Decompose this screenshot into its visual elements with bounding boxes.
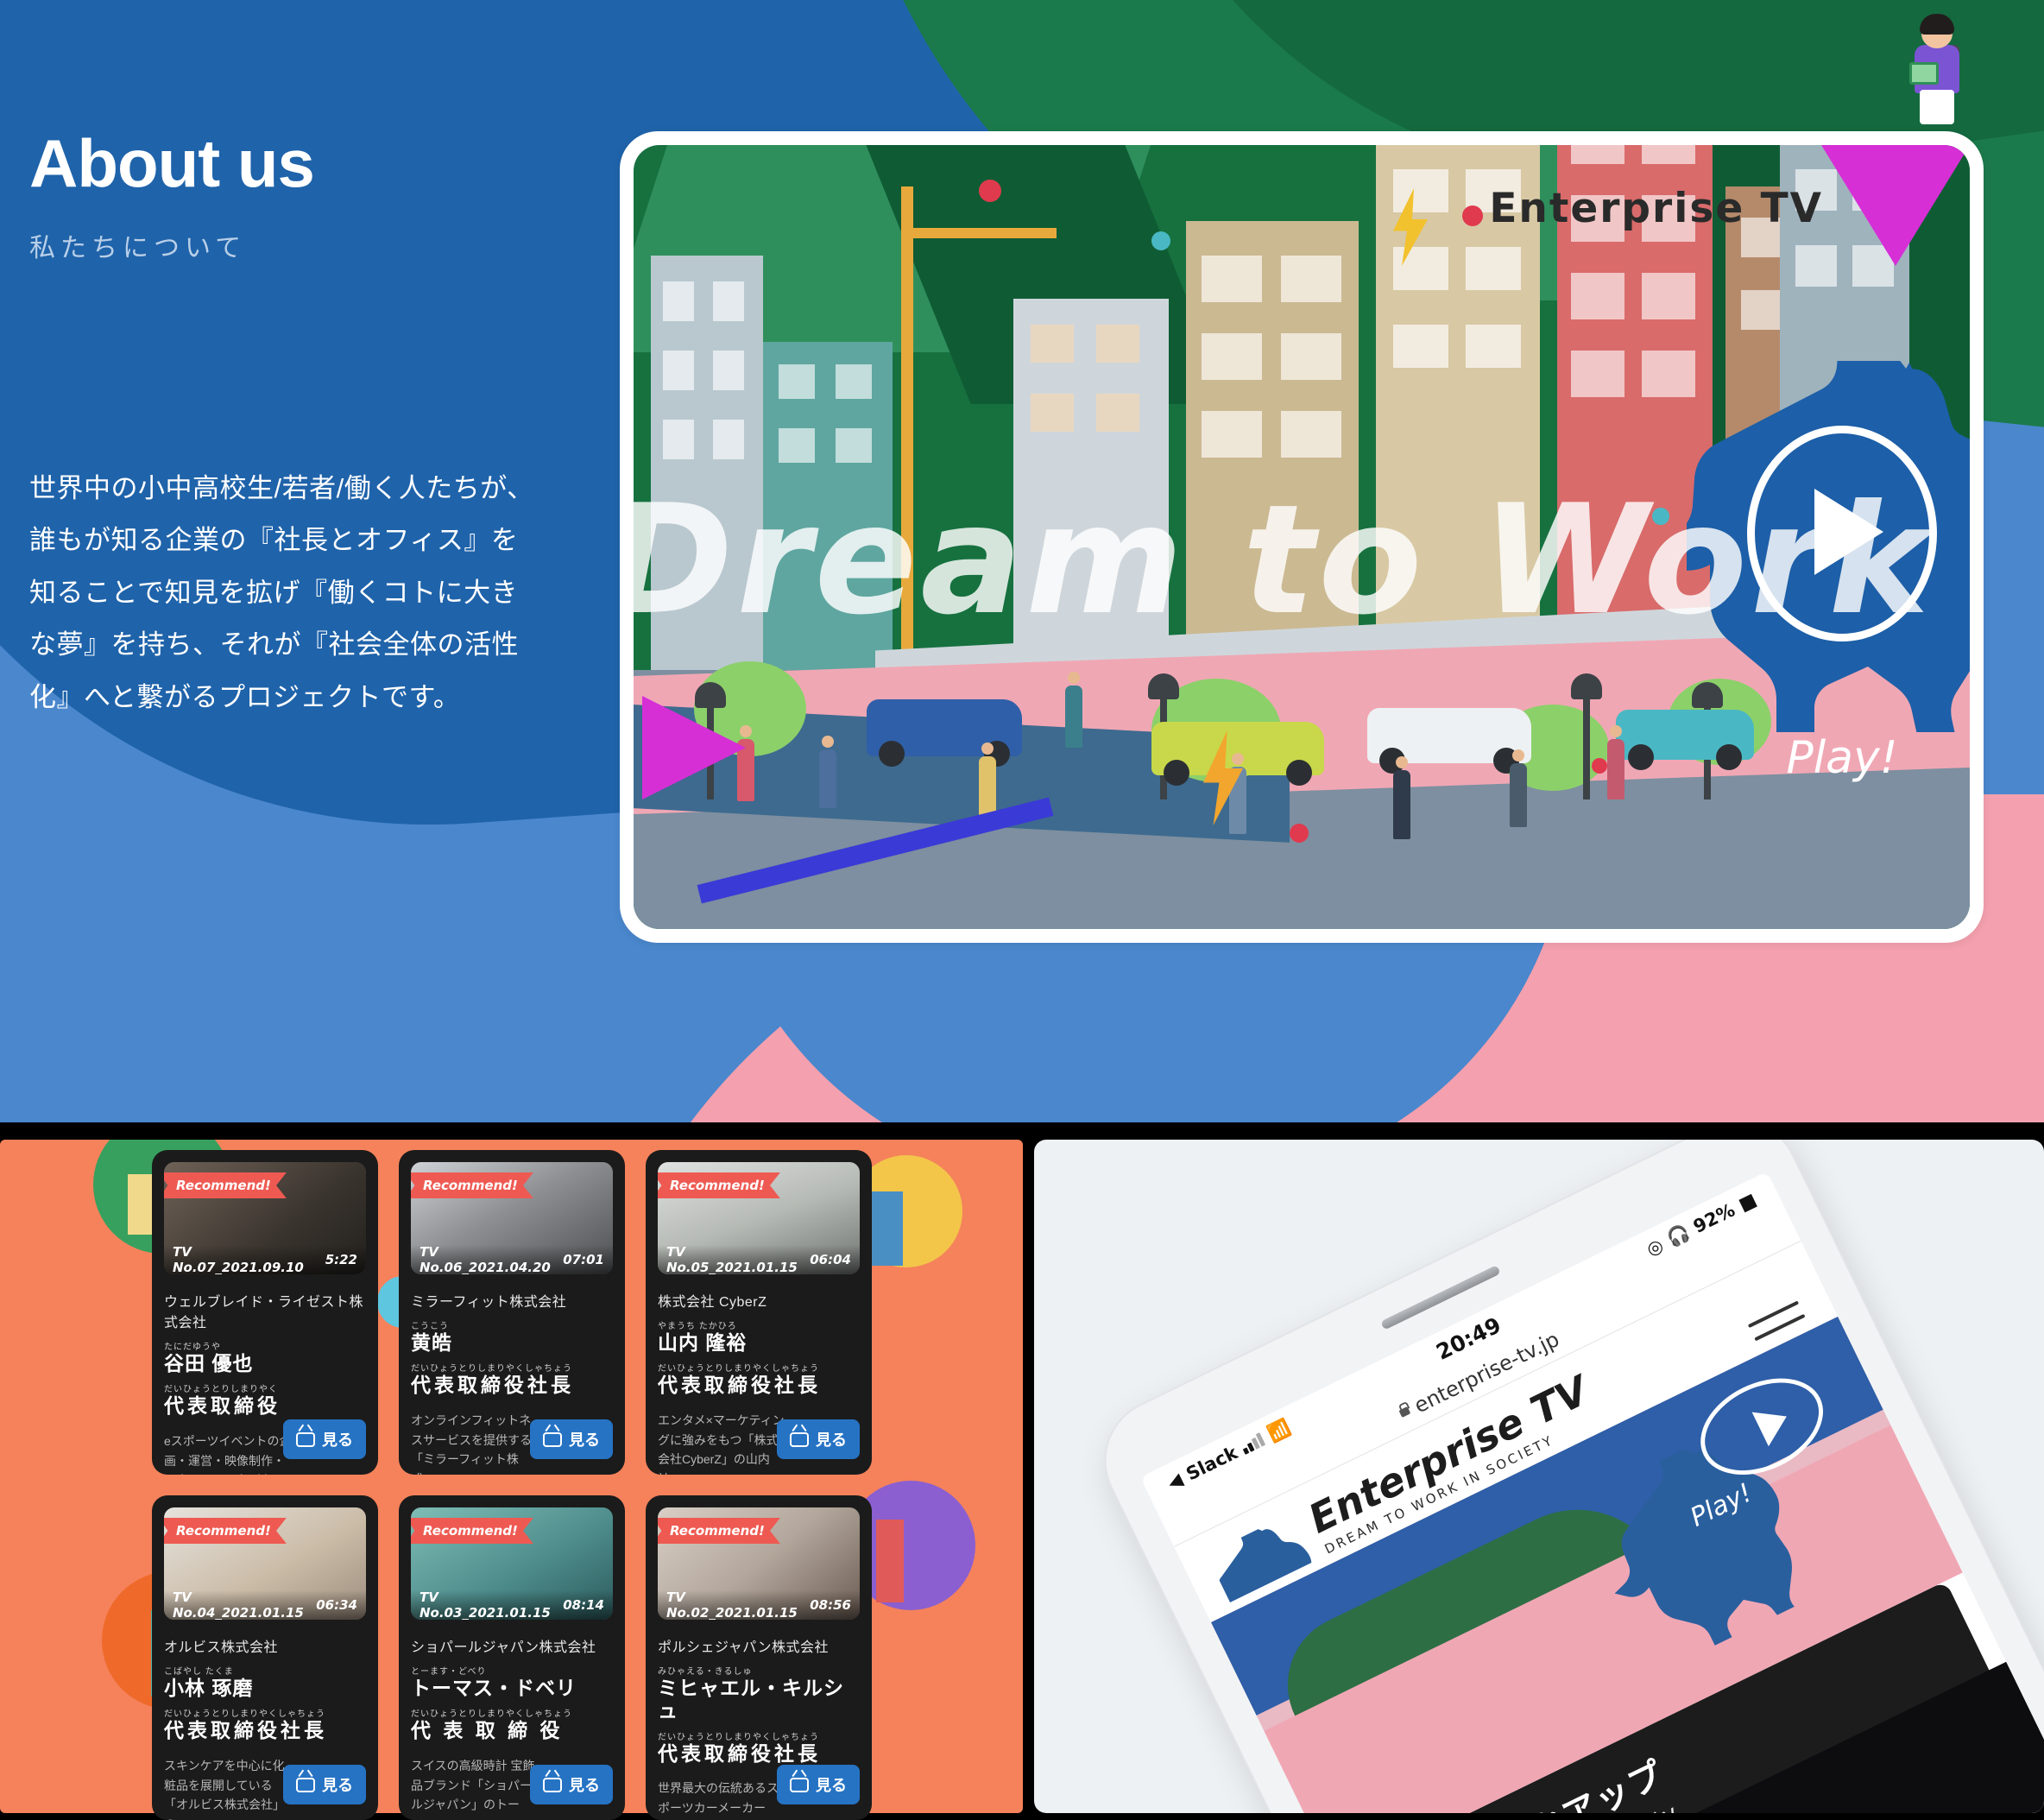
back-arrow-icon: ◀ — [1164, 1469, 1186, 1494]
person-role: 代表取締役 — [164, 1394, 366, 1417]
hero-video-frame[interactable]: Dream to Work Play! Enterprise TV — [620, 131, 1984, 943]
battery-icon: ■ — [1735, 1189, 1759, 1215]
person-role: 代 表 取 締 役 — [411, 1719, 613, 1741]
card-description: スキンケアを中心に化粧品を展開している「オルビス株式会社」の... — [164, 1756, 293, 1820]
person-name: 黄皓 — [411, 1331, 613, 1354]
video-card[interactable]: Recommend! TV No.05_2021.01.15 06:04 株式会… — [646, 1150, 872, 1475]
pedestrian-8 — [1607, 739, 1624, 799]
decor-dot-1 — [979, 180, 1001, 202]
video-card[interactable]: Recommend! TV No.07_2021.09.10 5:22 ウェルブ… — [152, 1150, 378, 1475]
car-blue — [867, 699, 1022, 756]
about-us-hero-panel: About us 私たちについて 世界中の小中高校生/若者/働く人たちが、誰もが… — [0, 0, 2044, 1122]
thumbnail-meta-bar: TV No.02_2021.01.15 08:56 — [658, 1590, 860, 1620]
tv-number: TV No.07_2021.09.10 — [173, 1244, 325, 1274]
play-triangle-icon[interactable] — [1814, 489, 1883, 575]
book-icon — [1909, 62, 1939, 85]
person-role-furigana: だいひょうとりしまりやくしゃちょう — [164, 1706, 366, 1719]
video-thumbnail[interactable]: Recommend! TV No.06_2021.04.20 07:01 — [411, 1162, 613, 1274]
decor-building-yellow-1 — [128, 1174, 154, 1235]
tv-icon — [296, 1432, 315, 1447]
person-name-furigana: たにだゆうや — [164, 1339, 366, 1352]
tv-icon — [790, 1778, 809, 1792]
thumbnail-meta-bar: TV No.06_2021.04.20 07:01 — [411, 1245, 613, 1274]
enterprise-tv-badge: Enterprise TV — [1489, 185, 1823, 232]
person-role-furigana: だいひょうとりしまりやくしゃちょう — [658, 1361, 860, 1374]
card-description: エンタメ×マーケティングに強みをもつ「株式会社CyberZ」の山内社... — [658, 1411, 787, 1475]
car-white — [1367, 708, 1531, 763]
person-name-furigana: とーます・どべり — [411, 1664, 613, 1677]
company-name: ショパールジャパン株式会社 — [411, 1635, 613, 1656]
company-name: ポルシェジャパン株式会社 — [658, 1635, 860, 1656]
headphones-icon: 🎧 — [1663, 1221, 1693, 1250]
person-name-furigana: こうこう — [411, 1318, 613, 1331]
video-thumbnail[interactable]: Recommend! TV No.05_2021.01.15 06:04 — [658, 1162, 860, 1274]
person-role-furigana: だいひょうとりしまりやくしゃちょう — [658, 1729, 860, 1742]
phone-screen[interactable]: ◀ Slack 📶 20:49 ◎ 🎧 92% ■ enterprise — [1140, 1172, 2044, 1813]
tv-number: TV No.06_2021.04.20 — [420, 1244, 563, 1274]
video-thumbnail[interactable]: Recommend! TV No.04_2021.01.15 06:34 — [164, 1507, 366, 1620]
hero-video[interactable]: Dream to Work Play! Enterprise TV — [634, 145, 1970, 929]
company-name: オルビス株式会社 — [164, 1635, 366, 1656]
pedestrian-4 — [1065, 686, 1082, 748]
lock-icon — [1398, 1406, 1410, 1418]
tv-number: TV No.03_2021.01.15 — [420, 1589, 563, 1620]
person-name: 山内 隆裕 — [658, 1331, 860, 1354]
person-role: 代表取締役社長 — [658, 1374, 860, 1396]
pedestrian-6 — [1393, 770, 1410, 839]
tv-icon — [790, 1432, 809, 1447]
video-thumbnail[interactable]: Recommend! TV No.07_2021.09.10 5:22 — [164, 1162, 366, 1274]
tv-number: TV No.02_2021.01.15 — [666, 1589, 810, 1620]
decor-dot-5 — [1290, 824, 1309, 843]
video-duration: 08:56 — [810, 1597, 851, 1613]
thumbnail-meta-bar: TV No.03_2021.01.15 08:14 — [411, 1590, 613, 1620]
card-description: スイスの高級時計 宝飾品ブランド「ショパールジャパン」のトーマ... — [411, 1756, 540, 1820]
person-name-furigana: やまうち たかひろ — [658, 1318, 860, 1331]
person-role: 代表取締役社長 — [411, 1374, 613, 1396]
card-description: 世界最大の伝統あるスポーツカーメーカー「ポルシェジャパン」の... — [658, 1779, 787, 1820]
phone-mockup-panel: ◀ Slack 📶 20:49 ◎ 🎧 92% ■ enterprise — [1034, 1140, 2044, 1813]
person-role-furigana: だいひょうとりしまりやくしゃちょう — [411, 1361, 613, 1374]
recommend-ribbon: Recommend! — [658, 1172, 780, 1198]
watch-button-label: 見る — [322, 1773, 353, 1796]
video-thumbnail[interactable]: Recommend! TV No.02_2021.01.15 08:56 — [658, 1507, 860, 1620]
card-description: eスポーツイベントの企画・運営・映像制作・マネジメントなどを行... — [164, 1431, 293, 1475]
watch-button[interactable]: 見る — [283, 1419, 366, 1459]
decor-dot-3 — [1462, 205, 1483, 226]
wifi-icon: 📶 — [1264, 1416, 1293, 1445]
phone-device: ◀ Slack 📶 20:49 ◎ 🎧 92% ■ enterprise — [1083, 1140, 2044, 1813]
recommend-ribbon: Recommend! — [164, 1172, 287, 1198]
recommend-ribbon: Recommend! — [411, 1172, 533, 1198]
page-subtitle: 私たちについて — [29, 226, 314, 264]
video-card[interactable]: Recommend! TV No.02_2021.01.15 08:56 ポルシ… — [646, 1495, 872, 1820]
student-hair-shape — [1920, 14, 1954, 35]
watch-button[interactable]: 見る — [777, 1765, 860, 1804]
location-icon: ◎ — [1643, 1235, 1667, 1261]
about-description: 世界中の小中高校生/若者/働く人たちが、誰もが知る企業の『社長とオフィス』を知る… — [29, 463, 544, 724]
company-name: ミラーフィット株式会社 — [411, 1290, 613, 1311]
play-label: Play! — [1786, 732, 1897, 784]
recommend-ribbon: Recommend! — [411, 1518, 533, 1544]
thumbnail-meta-bar: TV No.07_2021.09.10 5:22 — [164, 1245, 366, 1274]
recommend-ribbon: Recommend! — [164, 1518, 287, 1544]
about-heading-group: About us 私たちについて — [29, 130, 314, 264]
watch-button[interactable]: 見る — [777, 1419, 860, 1459]
video-duration: 5:22 — [325, 1252, 357, 1267]
watch-button[interactable]: 見る — [530, 1765, 613, 1804]
video-duration: 06:34 — [316, 1597, 357, 1613]
building-crane-arm — [901, 228, 1057, 238]
video-card[interactable]: Recommend! TV No.06_2021.04.20 07:01 ミラー… — [399, 1150, 625, 1475]
decor-dot-2 — [1151, 231, 1170, 250]
thumbnail-meta-bar: TV No.04_2021.01.15 06:34 — [164, 1590, 366, 1620]
watch-button-label: 見る — [816, 1428, 847, 1450]
pedestrian-2 — [819, 749, 836, 808]
watch-button[interactable]: 見る — [530, 1419, 613, 1459]
card-description: オンラインフィットネスサービスを提供する「ミラーフィット株式... — [411, 1411, 540, 1475]
company-name: 株式会社 CyberZ — [658, 1290, 860, 1311]
watch-button-label: 見る — [816, 1773, 847, 1796]
video-duration: 07:01 — [563, 1252, 604, 1267]
watch-button-label: 見る — [569, 1428, 600, 1450]
watch-button[interactable]: 見る — [283, 1765, 366, 1804]
decor-dot-6 — [1592, 758, 1607, 774]
signal-icon — [1240, 1432, 1265, 1455]
person-name: 谷田 優也 — [164, 1352, 366, 1374]
person-role: 代表取締役社長 — [164, 1719, 366, 1741]
video-card[interactable]: Recommend! TV No.04_2021.01.15 06:34 オルビ… — [152, 1495, 378, 1820]
student-legs-shape — [1920, 90, 1954, 124]
company-name: ウェルブレイド・ライゼスト株式会社 — [164, 1290, 366, 1331]
tv-number: TV No.04_2021.01.15 — [173, 1589, 316, 1620]
magenta-triangle-icon — [1821, 145, 1970, 266]
person-role-furigana: だいひょうとりしまりやく — [164, 1381, 366, 1394]
watch-button-label: 見る — [322, 1428, 353, 1450]
person-name: 小林 琢磨 — [164, 1677, 366, 1699]
video-card[interactable]: Recommend! TV No.03_2021.01.15 08:14 ショパ… — [399, 1495, 625, 1820]
video-duration: 06:04 — [810, 1252, 851, 1267]
video-thumbnail[interactable]: Recommend! TV No.03_2021.01.15 08:14 — [411, 1507, 613, 1620]
person-role-furigana: だいひょうとりしまりやくしゃちょう — [411, 1706, 613, 1719]
watch-button-label: 見る — [569, 1773, 600, 1796]
tv-icon — [296, 1778, 315, 1792]
student-illustration — [1899, 7, 1977, 128]
pedestrian-7 — [1510, 763, 1527, 827]
person-name-furigana: こばやし たくま — [164, 1664, 366, 1677]
thumbnail-meta-bar: TV No.05_2021.01.15 06:04 — [658, 1245, 860, 1274]
person-name: ミヒャエル・キルシュ — [658, 1677, 860, 1722]
person-role: 代表取締役社長 — [658, 1742, 860, 1765]
video-duration: 08:14 — [563, 1597, 604, 1613]
recommend-ribbon: Recommend! — [658, 1518, 780, 1544]
tv-icon — [543, 1778, 562, 1792]
page-title: About us — [29, 130, 314, 197]
tv-number: TV No.05_2021.01.15 — [666, 1244, 810, 1274]
person-name-furigana: みひゃえる・きるしゅ — [658, 1664, 860, 1677]
street-lamp-3 — [1583, 696, 1590, 799]
video-card-grid: Recommend! TV No.07_2021.09.10 5:22 ウェルブ… — [152, 1150, 1015, 1820]
tv-icon — [543, 1432, 562, 1447]
person-name: トーマス・ドベリ — [411, 1677, 613, 1699]
